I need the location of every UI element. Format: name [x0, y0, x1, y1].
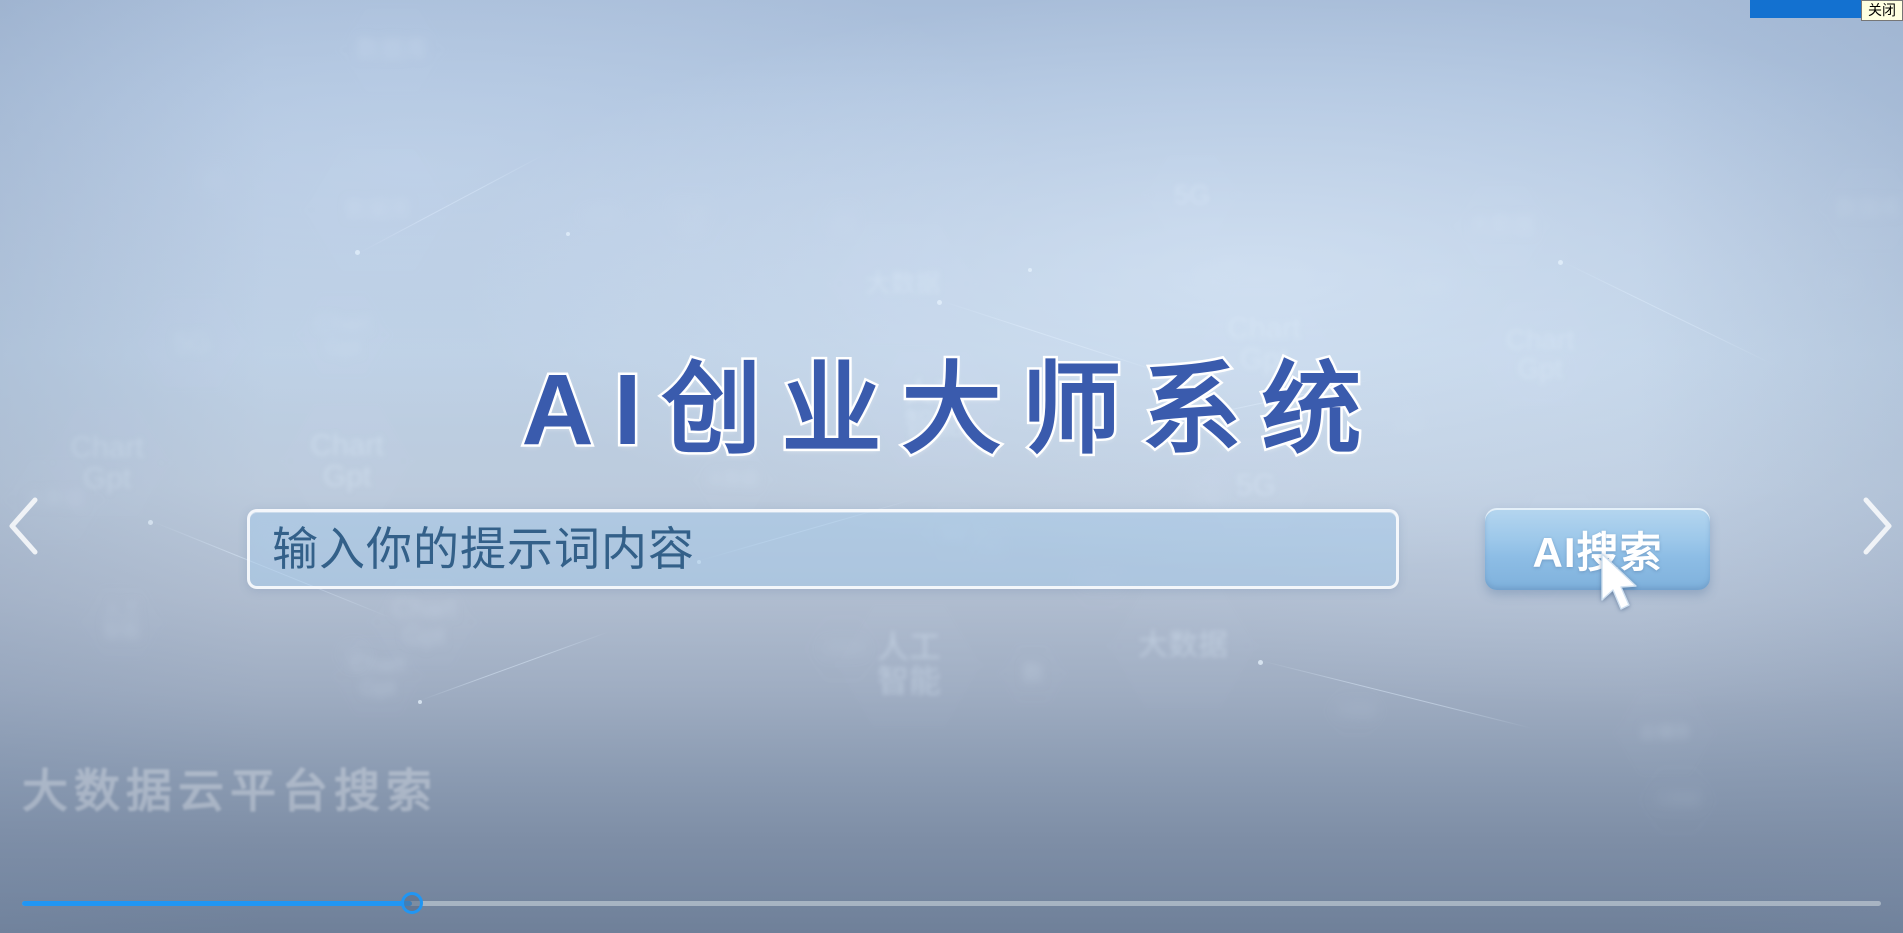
chevron-left-icon — [2, 490, 48, 562]
close-tooltip: 关闭 — [1861, 0, 1903, 21]
slider-thumb[interactable] — [401, 892, 423, 914]
media-progress-slider[interactable] — [22, 892, 1881, 914]
window-control-blue-strip[interactable] — [1750, 0, 1870, 18]
ai-search-button[interactable]: AI搜索 — [1485, 508, 1710, 590]
search-input[interactable] — [247, 509, 1399, 589]
app-root: 数据库5G大数据ChartGpt人工智能大数据5G大数据互联网人工智能5GCha… — [0, 0, 1903, 933]
page-title: AI创业大师系统 — [0, 328, 1903, 473]
carousel-next-arrow[interactable] — [1853, 490, 1899, 562]
chevron-right-icon — [1853, 490, 1899, 562]
search-row: AI搜索 — [247, 508, 1710, 590]
carousel-prev-arrow[interactable] — [2, 490, 48, 562]
slider-fill — [22, 901, 412, 906]
